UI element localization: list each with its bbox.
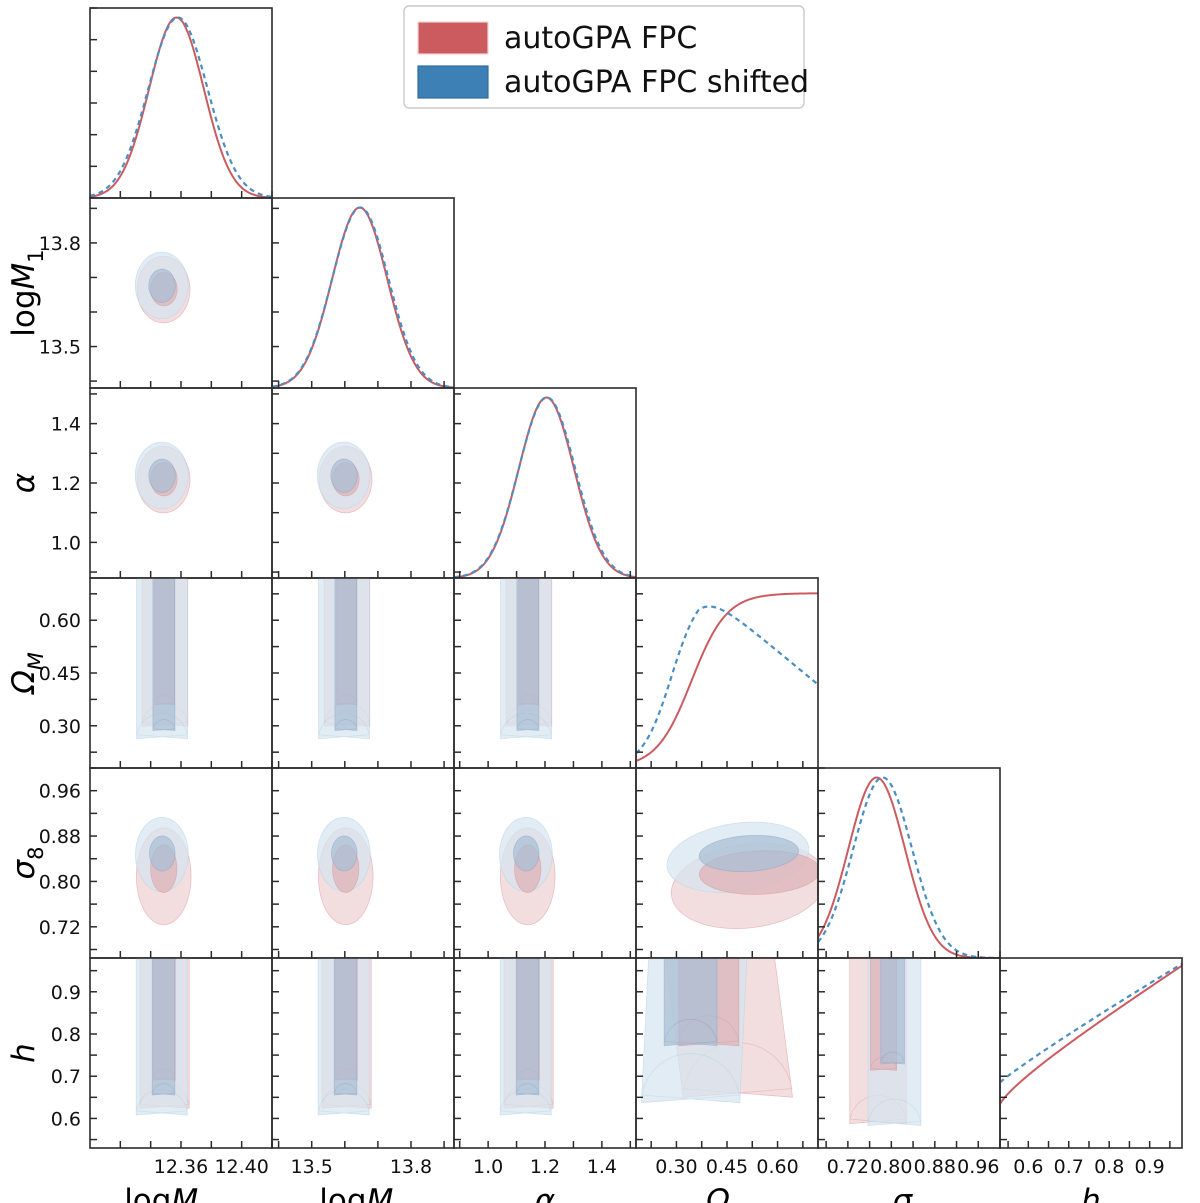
axis-title: h [6, 1043, 42, 1063]
contour-blue-1sigma [335, 576, 357, 730]
y-tick-label: 0.88 [39, 826, 81, 848]
y-tick-label: 0.30 [39, 716, 81, 738]
contour-blue-1sigma [514, 836, 539, 871]
contours [318, 956, 371, 1115]
contour-blue-1sigma [149, 269, 175, 302]
contour-blue-1sigma [881, 956, 905, 1064]
legend-swatch-2 [418, 66, 488, 98]
contours [501, 576, 552, 739]
axis-title: α [535, 1183, 555, 1203]
x-tick-label: 0.80 [870, 1156, 912, 1178]
contour-blue-1sigma [150, 836, 175, 871]
contour-blue-1sigma [153, 576, 175, 730]
contours [318, 817, 374, 924]
contour-blue-1sigma [331, 459, 357, 492]
axis-title: α [6, 473, 42, 493]
x-tick-label: 1.4 [587, 1156, 617, 1178]
x-tick-label: 0.8 [1094, 1156, 1124, 1178]
x-tick-label: 1.2 [530, 1156, 560, 1178]
x-tick-label: 13.8 [390, 1156, 432, 1178]
x-tick-label: 12.40 [214, 1156, 268, 1178]
y-tick-label: 0.60 [39, 610, 81, 632]
x-tick-label: 0.6 [1013, 1156, 1043, 1178]
contour-blue-1sigma [332, 836, 357, 871]
y-tick-label: 0.8 [51, 1024, 81, 1046]
y-tick-label: 0.80 [39, 871, 81, 893]
contour-blue-1sigma [516, 956, 539, 1095]
legend-label-2: autoGPA FPC shifted [504, 65, 809, 100]
y-tick-label: 1.2 [51, 473, 81, 495]
y-tick-label: 0.72 [39, 917, 81, 939]
contour-blue-1sigma [152, 956, 175, 1095]
contours [641, 956, 792, 1103]
contours [137, 576, 188, 739]
contours [319, 576, 370, 739]
contour-blue-1sigma [517, 576, 539, 730]
x-tick-label: 0.30 [655, 1156, 697, 1178]
contour-blue-1sigma [664, 956, 717, 1046]
x-tick-label: 0.7 [1054, 1156, 1084, 1178]
x-tick-label: 13.5 [291, 1156, 333, 1178]
corner-plot-figure: 13.513.81.01.21.40.300.450.600.720.800.8… [0, 0, 1200, 1203]
contour-blue-1sigma [149, 459, 175, 492]
x-tick-label: 0.9 [1135, 1156, 1165, 1178]
y-tick-label: 13.5 [39, 337, 81, 359]
x-tick-label: 1.0 [473, 1156, 503, 1178]
legend-swatch-1 [418, 22, 488, 54]
contours [500, 817, 556, 924]
y-tick-label: 1.4 [51, 414, 81, 436]
x-tick-label: 0.96 [957, 1156, 999, 1178]
x-tick-label: 12.36 [154, 1156, 208, 1178]
contour-blue-1sigma [334, 956, 357, 1095]
contours [850, 956, 921, 1125]
contours [136, 956, 189, 1115]
x-tick-label: 0.88 [914, 1156, 956, 1178]
legend-label-1: autoGPA FPC [504, 21, 697, 56]
y-tick-label: 0.7 [51, 1066, 81, 1088]
y-tick-label: 0.6 [51, 1108, 81, 1130]
contours [136, 817, 192, 924]
y-tick-label: 0.96 [39, 781, 81, 803]
legend: autoGPA FPCautoGPA FPC shifted [404, 6, 809, 108]
axis-title: h [1081, 1183, 1101, 1203]
y-tick-label: 1.0 [51, 532, 81, 554]
x-tick-label: 0.72 [827, 1156, 869, 1178]
y-tick-label: 0.9 [51, 982, 81, 1004]
x-tick-label: 0.45 [706, 1156, 748, 1178]
contours [500, 956, 553, 1115]
x-tick-label: 0.60 [756, 1156, 798, 1178]
